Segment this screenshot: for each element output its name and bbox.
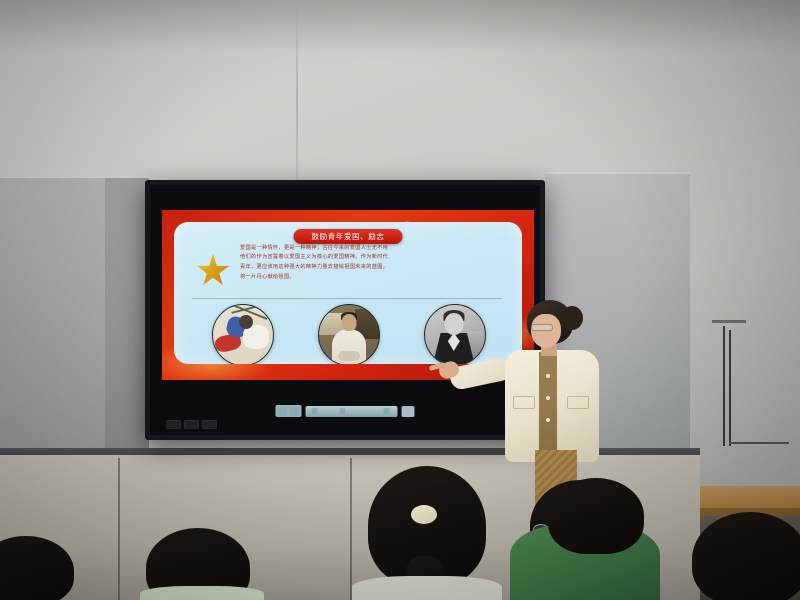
jacket-button (546, 374, 550, 378)
teacher-hair-bun (561, 306, 583, 330)
head (342, 314, 357, 331)
cabinet-seam (118, 458, 120, 600)
teacher-dress-front (539, 352, 557, 458)
slide-body-line: 爱国是一种情怀，更是一种精神，古往今来的爱国人士无不用 (240, 244, 512, 253)
photo-scholar-portrait (318, 304, 380, 364)
slide-body-text: 爱国是一种情怀，更是一种精神，古往今来的爱国人士无不用 他们的作为宣誓着以爱国主… (240, 244, 512, 283)
jacket-pocket (513, 396, 535, 409)
interactive-flat-panel[interactable]: 鼓励青年爱国、励志 爱国是一种情怀，更是一种精神，古往今来的爱国人士无不用 他们… (145, 180, 545, 440)
taskbar-right-button[interactable] (402, 406, 415, 417)
slide-body-line: 他们的作为宣誓着以爱国主义为核心的爱国精神。作为新时代 (240, 253, 512, 262)
input-button[interactable] (184, 420, 199, 429)
head (444, 313, 463, 335)
jacket-button (546, 418, 550, 422)
folded-arms (338, 351, 360, 361)
wall-seam (296, 0, 298, 200)
cabinet-seam (350, 458, 352, 600)
student-green-jacket-hair (548, 478, 644, 554)
taskbar-app-icon[interactable] (278, 407, 288, 416)
slide-body-line: 青年，更应该用这种强大的精神力量去描绘祖国未来的蓝图， (240, 263, 512, 272)
photo-bw-portrait (424, 304, 486, 364)
taskbar-tool-icon[interactable] (384, 408, 390, 414)
power-button[interactable] (166, 420, 181, 429)
bezel-button-row[interactable] (166, 420, 217, 429)
slide-divider (192, 298, 502, 299)
teacher-face (531, 314, 561, 348)
wall-panel-mid (105, 176, 149, 456)
student-far-right (692, 512, 800, 600)
presentation-slide: 鼓励青年爱国、励志 爱国是一种情怀，更是一种精神，古往今来的爱国人士无不用 他们… (162, 210, 534, 380)
wall-cable-1 (723, 326, 725, 446)
taskbar-tool-strip[interactable] (306, 406, 398, 417)
five-pointed-star-icon (196, 254, 230, 288)
ceiling-shadow (0, 0, 800, 52)
taskbar-app-icon[interactable] (290, 407, 300, 416)
figure-dark (239, 315, 253, 329)
screen-taskbar[interactable] (276, 405, 415, 417)
jacket-button (546, 396, 550, 400)
taskbar-tool-icon[interactable] (312, 408, 318, 414)
classroom-photo: 鼓励青年爱国、励志 爱国是一种情怀，更是一种精神，古往今来的爱国人士无不用 他们… (0, 0, 800, 600)
jacket-pocket (567, 396, 589, 409)
wall-cable-3 (729, 442, 789, 444)
student-front-center-left-shoulders (140, 586, 264, 600)
menu-button[interactable] (202, 420, 217, 429)
slide-photo-row (190, 302, 508, 364)
student-ponytail-shoulders (352, 576, 502, 600)
screen-surface[interactable]: 鼓励青年爱国、励志 爱国是一种情怀，更是一种精神，古往今来的爱国人士无不用 他们… (150, 185, 540, 435)
photo-battle-painting (212, 304, 274, 364)
hair-scrunchie (411, 505, 437, 524)
taskbar-left-group[interactable] (276, 405, 302, 417)
taskbar-tool-icon[interactable] (340, 408, 346, 414)
slide-card: 鼓励青年爱国、励志 爱国是一种情怀，更是一种精神，古往今来的爱国人士无不用 他们… (174, 222, 522, 364)
wall-cable-2 (729, 330, 731, 446)
slide-body-line: 将一片丹心献给祖国。 (240, 273, 512, 282)
glasses-icon (531, 324, 553, 331)
wall-bracket (712, 320, 746, 323)
slide-title: 鼓励青年爱国、励志 (294, 229, 403, 244)
